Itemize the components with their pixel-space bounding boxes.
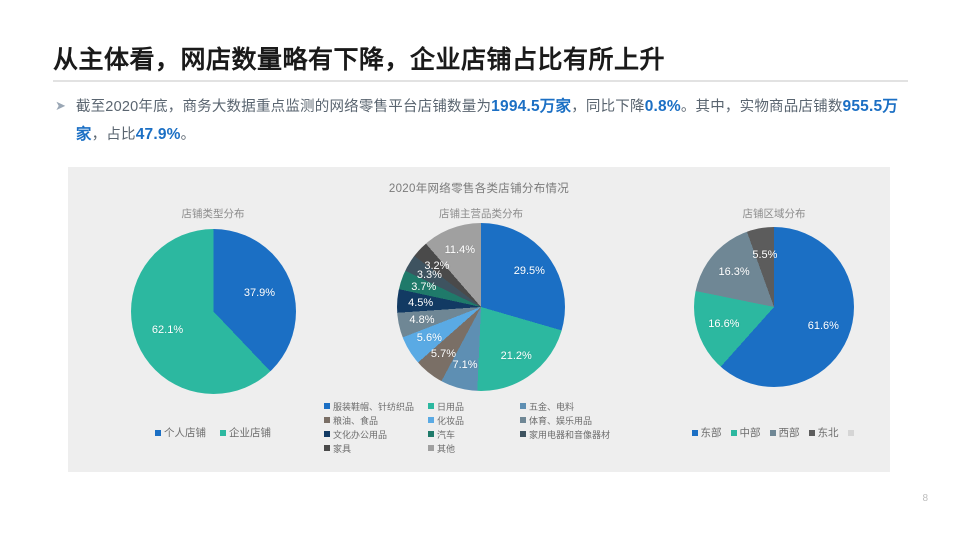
legend-item-五金、电料[interactable]: 五金、电料 <box>520 399 646 413</box>
chart-shop-region-subtitle: 店铺区域分布 <box>658 206 890 221</box>
legend-label: 汽车 <box>437 428 455 441</box>
legend-item-家用电器和音像器材[interactable]: 家用电器和音像器材 <box>520 427 646 441</box>
title-divider <box>53 80 908 82</box>
legend-label: 东部 <box>701 425 722 440</box>
legend-label: 个人店铺 <box>164 425 206 440</box>
pie-slice-label-4: 5.6% <box>417 332 442 344</box>
legend-label: 其他 <box>437 442 455 455</box>
legend-item-汽车[interactable]: 汽车 <box>428 427 516 441</box>
pie-slice-label-7: 3.7% <box>411 281 436 293</box>
pie-slice-label-3: 5.7% <box>431 348 456 360</box>
legend-swatch-icon <box>692 430 698 436</box>
legend-swatch-icon <box>220 430 226 436</box>
legend-label: 五金、电料 <box>529 400 574 413</box>
legend-swatch-icon <box>324 417 330 423</box>
pie-slice-label-1: 16.6% <box>708 318 739 330</box>
legend-item-体育、娱乐用品[interactable]: 体育、娱乐用品 <box>520 413 646 427</box>
legend-swatch-icon <box>520 403 526 409</box>
legend-swatch-icon <box>731 430 737 436</box>
pie-slice-label-10: 11.4% <box>445 244 475 256</box>
legend-empty-cell <box>520 441 646 455</box>
paragraph-segment-5: 。 <box>181 127 196 143</box>
bullet-paragraph: ➤ 截至2020年底，商务大数据重点监测的网络零售平台店铺数量为1994.5万家… <box>55 93 915 149</box>
legend-swatch-icon <box>520 417 526 423</box>
legend-shop-type: 个人店铺企业店铺 <box>68 425 358 440</box>
pie-slice-label-2: 7.1% <box>452 359 477 371</box>
legend-swatch-icon <box>324 403 330 409</box>
pie-slice-label-qiye: 62.1% <box>152 324 183 336</box>
legend-item-其他[interactable]: 其他 <box>428 441 516 455</box>
paragraph-segment-1: 截至2020年底，商务大数据重点监测的网络零售平台店铺数量为 <box>76 99 491 115</box>
legend-label: 家用电器和音像器材 <box>529 428 610 441</box>
legend-label: 企业店铺 <box>229 425 271 440</box>
legend-label: 文化办公用品 <box>333 428 387 441</box>
legend-item-企业店铺[interactable]: 企业店铺 <box>220 425 271 440</box>
legend-swatch-icon <box>428 417 434 423</box>
paragraph-highlight-share: 47.9% <box>136 126 181 143</box>
legend-label: 西部 <box>779 425 800 440</box>
legend-item-个人店铺[interactable]: 个人店铺 <box>155 425 206 440</box>
bullet-arrow-icon: ➤ <box>55 93 66 119</box>
legend-swatch-icon <box>428 431 434 437</box>
legend-swatch-icon <box>809 430 815 436</box>
legend-label: 化妆品 <box>437 414 464 427</box>
legend-label: 家具 <box>333 442 351 455</box>
pie-shop-type <box>131 229 296 394</box>
paragraph-segment-2: ，同比下降 <box>571 99 645 115</box>
legend-swatch-icon <box>155 430 161 436</box>
paragraph-segment-4: ，占比 <box>92 127 136 143</box>
pie-slice-label-6: 4.5% <box>408 297 433 309</box>
chart-shop-category-subtitle: 店铺主营品类分布 <box>316 206 646 221</box>
legend-label: 服装鞋帽、针纺织品 <box>333 400 414 413</box>
legend-item-粮油、食品[interactable]: 粮油、食品 <box>324 413 424 427</box>
legend-item-日用品[interactable]: 日用品 <box>428 399 516 413</box>
pie-slice-label-5: 4.8% <box>409 314 434 326</box>
pie-slice-label-0: 29.5% <box>514 265 545 277</box>
legend-item-东北[interactable]: 东北 <box>809 425 839 440</box>
pie-slice-label-0: 61.6% <box>808 320 839 332</box>
pie-slice-label-geren: 37.9% <box>244 287 275 299</box>
legend-item-extra <box>848 425 857 440</box>
chart-shop-category: 店铺主营品类分布 服装鞋帽、针纺织品日用品五金、电料粮油、食品化妆品体育、娱乐用… <box>316 167 646 472</box>
legend-label: 日用品 <box>437 400 464 413</box>
legend-swatch-icon <box>428 445 434 451</box>
legend-swatch-icon <box>324 431 330 437</box>
pie-slice-label-9: 3.2% <box>424 260 449 272</box>
legend-swatch-icon <box>770 430 776 436</box>
paragraph-highlight-total-shops: 1994.5万家 <box>491 98 571 115</box>
legend-item-文化办公用品[interactable]: 文化办公用品 <box>324 427 424 441</box>
legend-swatch-icon <box>324 445 330 451</box>
legend-label: 中部 <box>740 425 761 440</box>
legend-item-西部[interactable]: 西部 <box>770 425 800 440</box>
page-number: 8 <box>922 493 928 504</box>
paragraph-segment-3: 。其中，实物商品店铺数 <box>681 99 843 115</box>
legend-item-东部[interactable]: 东部 <box>692 425 722 440</box>
legend-swatch-icon <box>428 403 434 409</box>
paragraph-highlight-yoy-change: 0.8% <box>645 98 681 115</box>
legend-item-服装鞋帽、针纺织品[interactable]: 服装鞋帽、针纺织品 <box>324 399 424 413</box>
chart-shop-type: 店铺类型分布 37.9% 62.1% 个人店铺企业店铺 <box>68 167 358 472</box>
page-title: 从主体看，网店数量略有下降，企业店铺占比有所上升 <box>53 40 665 76</box>
legend-item-中部[interactable]: 中部 <box>731 425 761 440</box>
bullet-paragraph-text: 截至2020年底，商务大数据重点监测的网络零售平台店铺数量为1994.5万家，同… <box>76 93 915 149</box>
slide-canvas: 从主体看，网店数量略有下降，企业店铺占比有所上升 ➤ 截至2020年底，商务大数… <box>0 0 960 540</box>
chart-shop-type-subtitle: 店铺类型分布 <box>68 206 358 221</box>
pie-slice-label-3: 5.5% <box>752 249 777 261</box>
pie-slice-label-2: 16.3% <box>718 266 749 278</box>
legend-label: 东北 <box>818 425 839 440</box>
chart-shop-region: 店铺区域分布 东部中部西部东北 61.6%16.6%16.3%5.5% <box>658 167 890 472</box>
legend-label: 粮油、食品 <box>333 414 378 427</box>
legend-label: 体育、娱乐用品 <box>529 414 592 427</box>
pie-slice-label-1: 21.2% <box>501 350 532 362</box>
charts-panel: 2020年网络零售各类店铺分布情况 店铺类型分布 37.9% 62.1% 个人店… <box>68 167 890 472</box>
legend-shop-region: 东部中部西部东北 <box>658 425 890 440</box>
legend-swatch-icon <box>848 430 854 436</box>
legend-item-家具[interactable]: 家具 <box>324 441 424 455</box>
legend-item-化妆品[interactable]: 化妆品 <box>428 413 516 427</box>
legend-shop-category: 服装鞋帽、针纺织品日用品五金、电料粮油、食品化妆品体育、娱乐用品文化办公用品汽车… <box>324 399 646 455</box>
legend-swatch-icon <box>520 431 526 437</box>
